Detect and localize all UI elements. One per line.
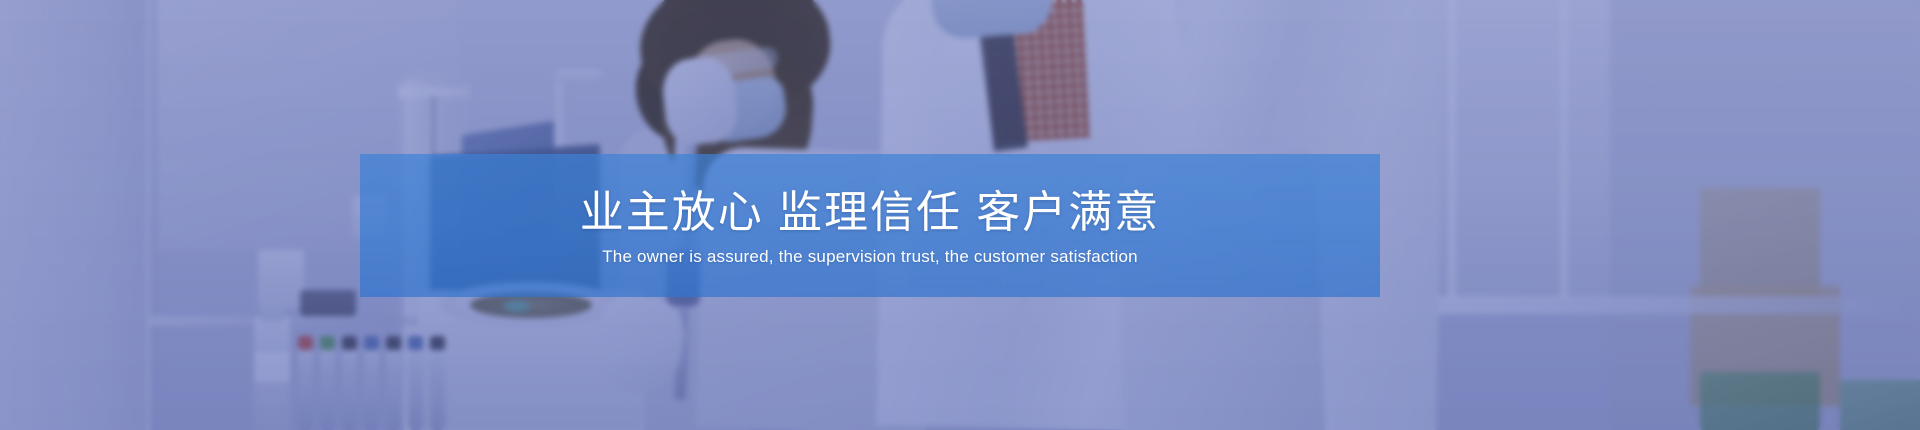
slogan-text-group: 业主放心 监理信任 客户满意 The owner is assured, the… — [580, 188, 1160, 268]
hero-banner: 业主放心 监理信任 客户满意 The owner is assured, the… — [0, 0, 1920, 430]
slogan-band: 业主放心 监理信任 客户满意 The owner is assured, the… — [360, 154, 1380, 297]
slogan-headline: 业主放心 监理信任 客户满意 — [580, 188, 1160, 237]
slogan-subline: The owner is assured, the supervision tr… — [580, 247, 1160, 267]
